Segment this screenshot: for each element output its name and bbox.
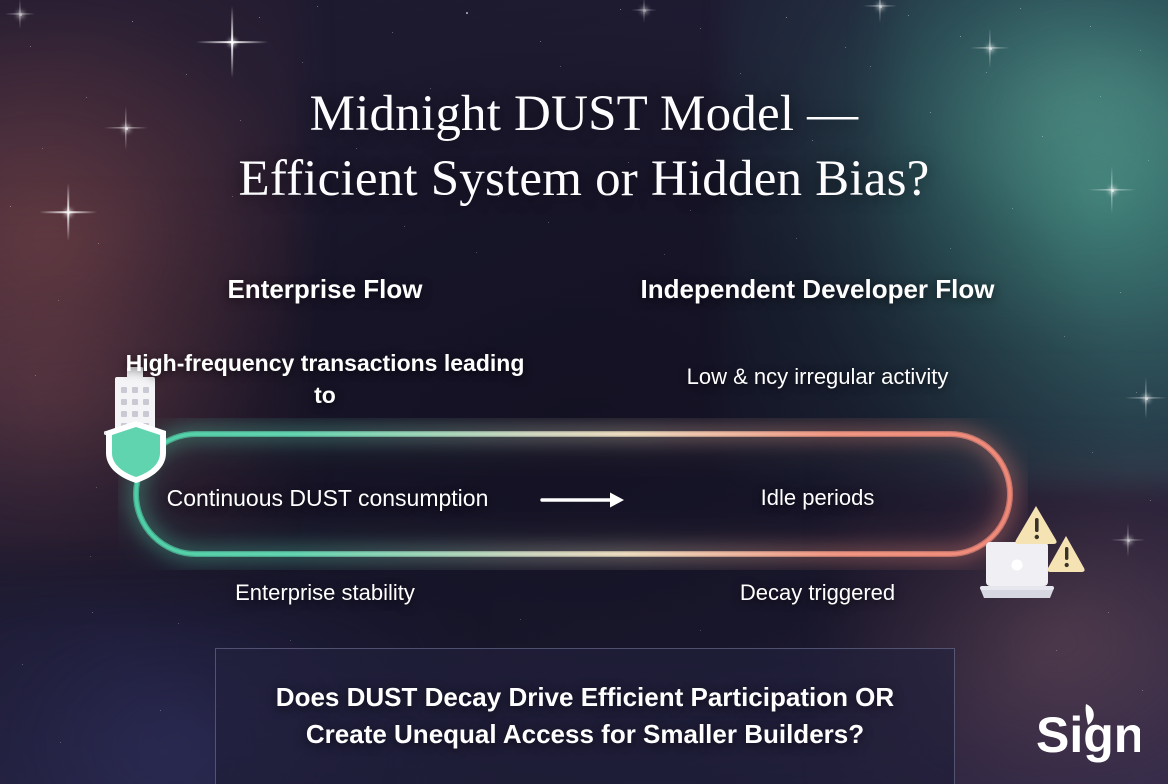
enterprise-top-text: High-frequency transactions leading to [120,348,530,411]
star-dot [664,254,665,255]
star-sparkle [1111,523,1145,557]
independent-middle-text: Idle periods [640,485,995,511]
page-title: Midnight DUST Model — Efficient System o… [0,82,1168,212]
question-line-1: Does DUST Decay Drive Efficient Particip… [216,679,954,716]
independent-bottom-text: Decay triggered [640,580,995,606]
warning-triangle-icon [1015,506,1056,544]
star-dot [700,630,701,631]
star-sparkle [1125,377,1167,419]
enterprise-bottom-text: Enterprise stability [120,580,530,606]
column-header-enterprise: Enterprise Flow [150,274,500,305]
star-sparkle [863,0,897,23]
star-sparkle [5,0,35,29]
star-sparkle [196,6,268,78]
laptop-warning-icon [980,498,1088,608]
slide-canvas: Midnight DUST Model — Efficient System o… [0,0,1168,784]
star-sparkle [631,0,657,23]
star-dot [520,619,521,620]
star-dot [466,12,468,14]
title-line-1: Midnight DUST Model — [310,86,859,142]
independent-top-text: Low & ncy irregular activity [620,364,1015,390]
question-panel-text: Does DUST Decay Drive Efficient Particip… [216,679,954,753]
right-arrow-icon [540,489,628,511]
title-line-2: Efficient System or Hidden Bias? [0,147,1168,212]
question-panel: Does DUST Decay Drive Efficient Particip… [215,648,955,784]
sign-logo: Sign [1036,700,1140,766]
column-header-independent: Independent Developer Flow [580,274,1055,305]
star-sparkle [970,28,1010,68]
question-line-2: Create Unequal Access for Smaller Builde… [216,716,954,753]
enterprise-middle-text: Continuous DUST consumption [100,485,555,512]
star-dot [476,252,477,253]
